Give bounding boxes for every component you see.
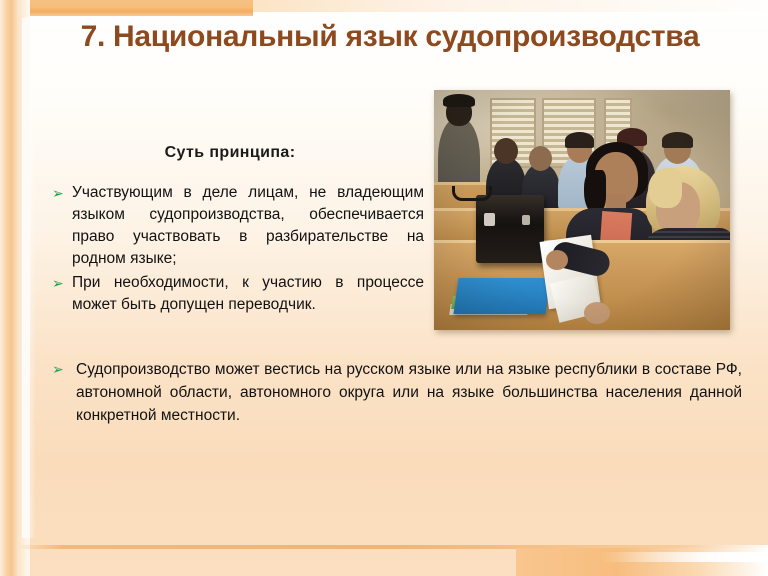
list-item-text: При необходимости, к участию в процессе … [72, 272, 424, 316]
courtroom-photo [434, 90, 730, 330]
arrow-bullet-icon: ➢ [52, 182, 72, 204]
list-item: ➢ Судопроизводство может вестись на русс… [52, 358, 742, 427]
photo-vignette [434, 90, 730, 330]
list-item-text: Участвующим в деле лицам, не владеющим я… [72, 182, 424, 270]
principle-essence-heading: Суть принципа: [60, 144, 400, 162]
presentation-slide: 7. Национальный язык судопроизводства Су… [0, 0, 768, 576]
bullet-list-left: ➢ Участвующим в деле лицам, не владеющим… [52, 182, 424, 318]
top-accent-bar-tail [253, 0, 768, 12]
list-item-text: Судопроизводство может вестись на русско… [76, 358, 742, 427]
left-accent-stripe-highlight [22, 18, 36, 538]
arrow-bullet-icon: ➢ [52, 272, 72, 294]
bullet-list-bottom: ➢ Судопроизводство может вестись на русс… [52, 358, 742, 429]
slide-title: 7. Национальный язык судопроизводства [40, 20, 740, 54]
photo-scene [434, 90, 730, 330]
bottom-right-accent-sliver [600, 552, 768, 562]
list-item: ➢ Участвующим в деле лицам, не владеющим… [52, 182, 424, 270]
list-item: ➢ При необходимости, к участию в процесс… [52, 272, 424, 316]
top-accent-bar [10, 0, 253, 16]
arrow-bullet-icon: ➢ [52, 358, 76, 381]
